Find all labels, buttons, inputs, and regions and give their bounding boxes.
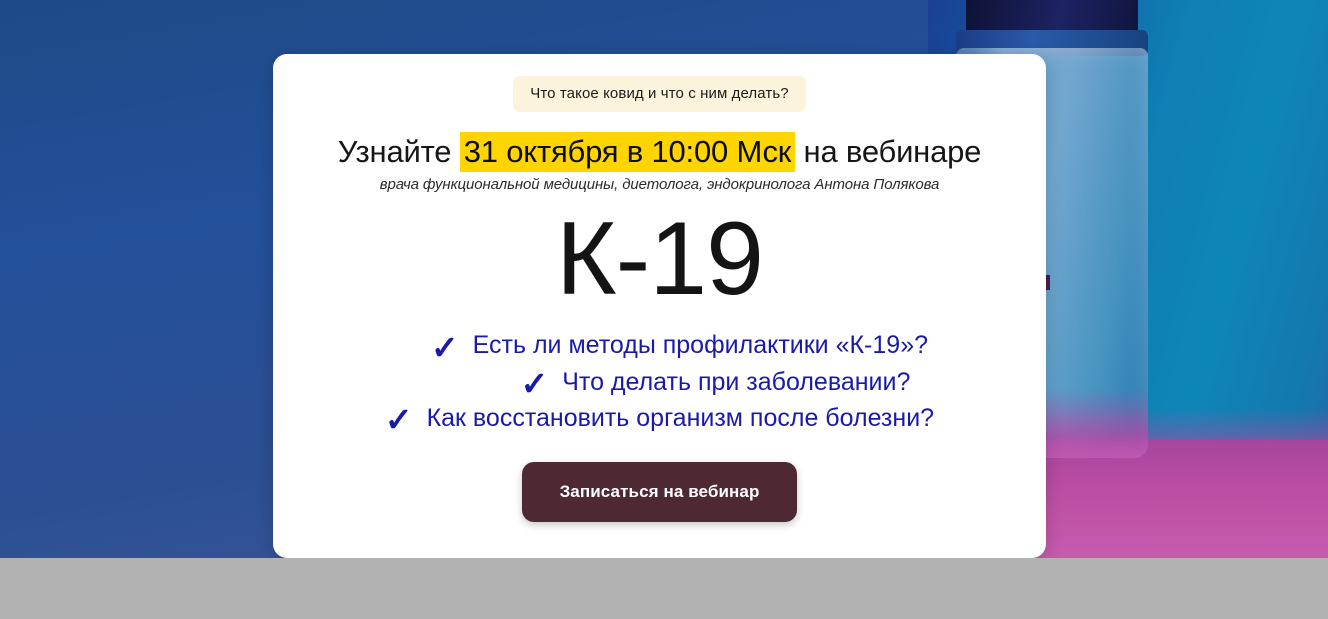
- headline-suffix: на вебинаре: [795, 134, 981, 169]
- page-root: D-19 ne n Only Что такое ковид и что с н…: [0, 0, 1328, 619]
- list-item-label: Что делать при заболевании?: [562, 364, 910, 400]
- hero-section: D-19 ne n Only Что такое ковид и что с н…: [0, 0, 1328, 558]
- headline: Узнайте 31 октября в 10:00 Мск на вебина…: [273, 134, 1046, 170]
- list-item: ✓ Есть ли методы профилактики «К-19»?: [273, 327, 1046, 363]
- offer-card: Что такое ковид и что с ним делать? Узна…: [273, 54, 1046, 558]
- page-below-hero: [0, 558, 1328, 619]
- headline-prefix: Узнайте: [338, 134, 460, 169]
- vial-cap: [966, 0, 1138, 34]
- list-item: ✓ Что делать при заболевании?: [273, 364, 1046, 400]
- big-code-title: К-19: [273, 203, 1046, 315]
- list-item-label: Есть ли методы профилактики «К-19»?: [473, 327, 928, 363]
- check-icon: ✓: [521, 367, 549, 400]
- register-webinar-button[interactable]: Записаться на вебинар: [522, 462, 798, 522]
- check-icon: ✓: [431, 331, 459, 364]
- list-item-label: Как восстановить организм после болезни?: [427, 400, 934, 436]
- headline-highlight-date: 31 октября в 10:00 Мск: [460, 132, 795, 172]
- list-item: ✓ Как восстановить организм после болезн…: [273, 400, 1046, 436]
- check-icon: ✓: [385, 403, 413, 436]
- subtitle-speaker: врача функциональной медицины, диетолога…: [273, 176, 1046, 193]
- benefits-list: ✓ Есть ли методы профилактики «К-19»? ✓ …: [273, 327, 1046, 436]
- topic-badge: Что такое ковид и что с ним делать?: [513, 76, 805, 112]
